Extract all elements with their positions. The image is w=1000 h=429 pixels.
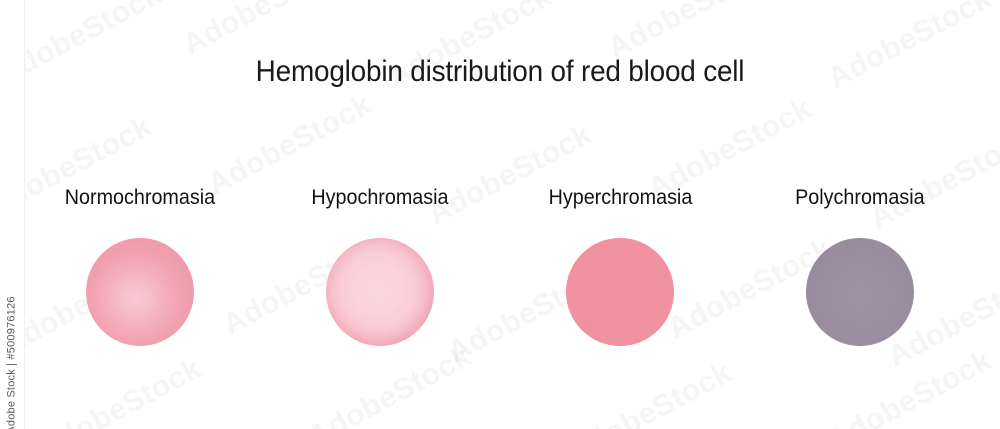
watermark-sidebar-text: Adobe Stock | #500976126 — [6, 296, 18, 429]
cell-disc-wrap-hypochromasia — [325, 237, 435, 347]
watermark-sidebar: Adobe Stock | #500976126 — [0, 0, 25, 429]
rbc-hypochromasia-icon — [326, 238, 434, 346]
cell-label-polychromasia: Polychromasia — [795, 185, 924, 211]
cell-disc-wrap-normochromasia — [85, 237, 195, 347]
figure-canvas: AdobeStock AdobeStock AdobeStock AdobeSt… — [0, 0, 1000, 429]
cell-label-hyperchromasia: Hyperchromasia — [548, 185, 692, 211]
cell-disc-wrap-polychromasia — [805, 237, 915, 347]
watermark-tile: AdobeStock — [178, 0, 353, 62]
rbc-polychromasia-icon — [806, 238, 914, 346]
cell-disc-wrap-hyperchromasia — [565, 237, 675, 347]
cell-column-hypochromasia: Hypochromasia — [268, 185, 492, 347]
figure-title: Hemoglobin distribution of red blood cel… — [35, 55, 965, 89]
rbc-hyperchromasia-icon — [566, 238, 674, 346]
cell-row: Normochromasia Hypochromasia Hyperchroma… — [0, 185, 1000, 385]
cell-column-hyperchromasia: Hyperchromasia — [508, 185, 732, 347]
cell-column-normochromasia: Normochromasia — [28, 185, 252, 347]
rbc-normochromasia-icon — [86, 238, 194, 346]
cell-label-hypochromasia: Hypochromasia — [311, 185, 448, 211]
cell-label-normochromasia: Normochromasia — [65, 185, 215, 211]
cell-column-polychromasia: Polychromasia — [748, 185, 972, 347]
